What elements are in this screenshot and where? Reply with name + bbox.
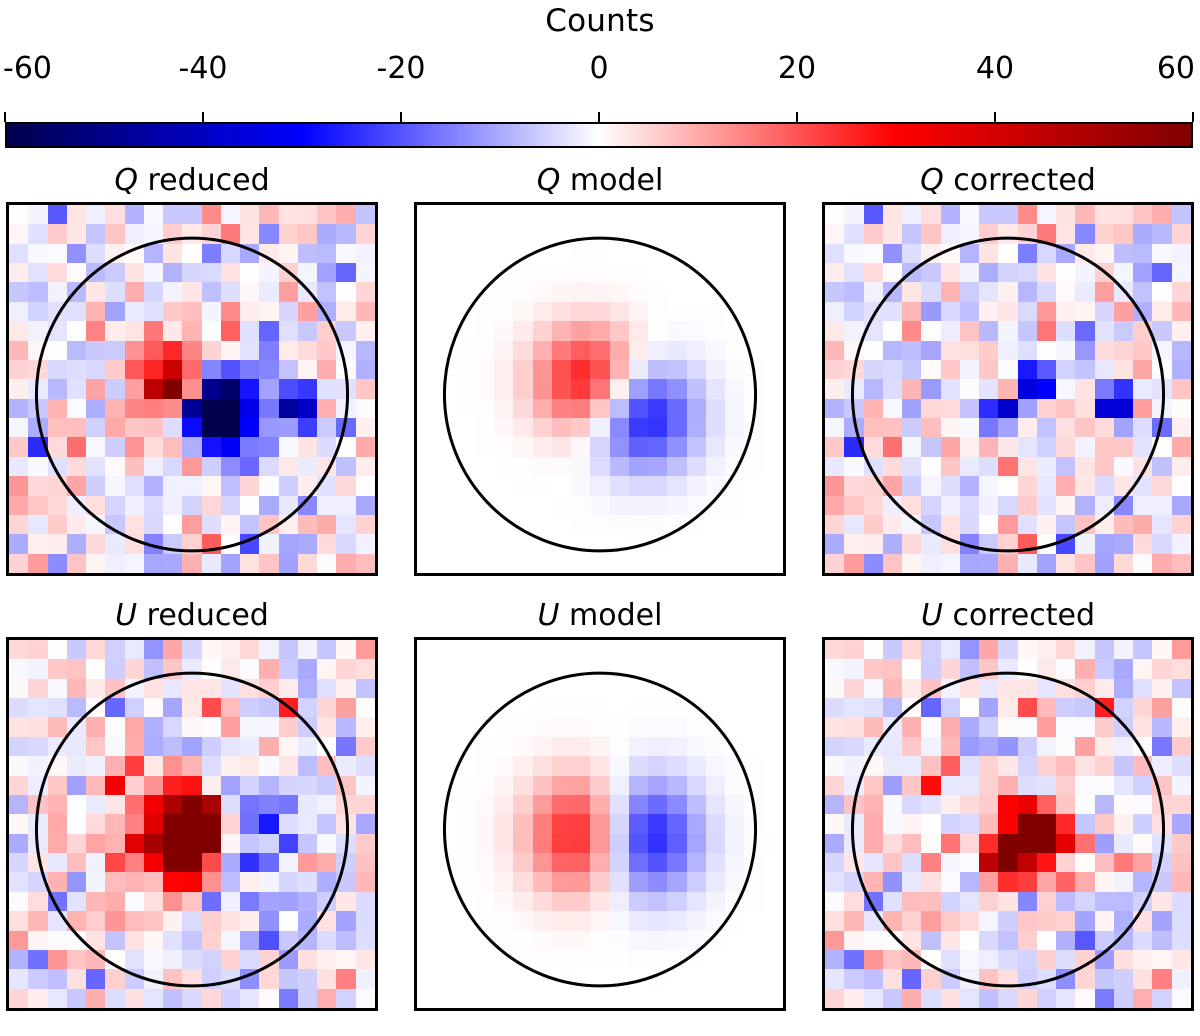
colorbar-tick [598, 112, 600, 122]
colorbar-gradient [5, 122, 1193, 148]
colorbar-tick-label: 0 [589, 52, 608, 86]
panel-q-model: Q model [414, 160, 786, 576]
aperture-circle [9, 205, 375, 573]
aperture-circle [9, 640, 375, 1008]
colorbar-tick [202, 112, 204, 122]
colorbar-tick-labels: -60-40-200204060 [0, 52, 1200, 88]
colorbar-tick [4, 112, 6, 122]
aperture-circle [825, 205, 1191, 573]
panel-q-reduced: Q reduced [6, 160, 378, 576]
panel-title-symbol: Q [114, 163, 138, 198]
panel-title-text: model [560, 598, 663, 633]
colorbar-tick-label: -40 [179, 52, 228, 86]
colorbar-block: Counts -60-40-200204060 [0, 0, 1200, 160]
panel-q-corrected: Q corrected [822, 160, 1194, 576]
panel-title-q-corrected: Q corrected [822, 160, 1194, 202]
panel-title-q-model: Q model [414, 160, 786, 202]
panel-title-u-corrected: U corrected [822, 595, 1194, 637]
colorbar-tick [1192, 112, 1194, 122]
panel-image-u-reduced [6, 637, 378, 1011]
colorbar-tick-label: 40 [976, 52, 1014, 86]
colorbar-tick-marks [5, 112, 1193, 122]
aperture-circle [417, 640, 783, 1008]
panel-title-symbol: U [115, 598, 137, 633]
colorbar-tick [400, 112, 402, 122]
colorbar-tick [994, 112, 996, 122]
panel-title-text: corrected [944, 163, 1096, 198]
aperture-circle [825, 640, 1191, 1008]
panel-title-text: reduced [137, 598, 269, 633]
panel-image-q-reduced [6, 202, 378, 576]
panel-grid: Q reducedQ modelQ correctedU reducedU mo… [0, 160, 1200, 1036]
colorbar-tick-label: -60 [3, 52, 52, 86]
panel-title-symbol: U [538, 598, 560, 633]
panel-u-corrected: U corrected [822, 595, 1194, 1011]
panel-title-u-reduced: U reduced [6, 595, 378, 637]
panel-u-reduced: U reduced [6, 595, 378, 1011]
panel-image-q-corrected [822, 202, 1194, 576]
panel-title-text: corrected [943, 598, 1095, 633]
colorbar-tick [796, 112, 798, 122]
panel-title-symbol: Q [920, 163, 944, 198]
colorbar-tick-label: -20 [377, 52, 426, 86]
panel-title-symbol: U [921, 598, 943, 633]
colorbar-tick-label: 60 [1157, 52, 1195, 86]
panel-title-text: model [560, 163, 663, 198]
colorbar-tick-label: 20 [778, 52, 816, 86]
panel-image-q-model [414, 202, 786, 576]
panel-title-q-reduced: Q reduced [6, 160, 378, 202]
panel-title-text: reduced [138, 163, 270, 198]
panel-image-u-corrected [822, 637, 1194, 1011]
colorbar-title: Counts [0, 4, 1200, 38]
panel-u-model: U model [414, 595, 786, 1011]
aperture-circle [417, 205, 783, 573]
panel-image-u-model [414, 637, 786, 1011]
panel-title-symbol: Q [537, 163, 561, 198]
figure-root: Counts -60-40-200204060 Q reducedQ model… [0, 0, 1200, 1036]
panel-title-u-model: U model [414, 595, 786, 637]
